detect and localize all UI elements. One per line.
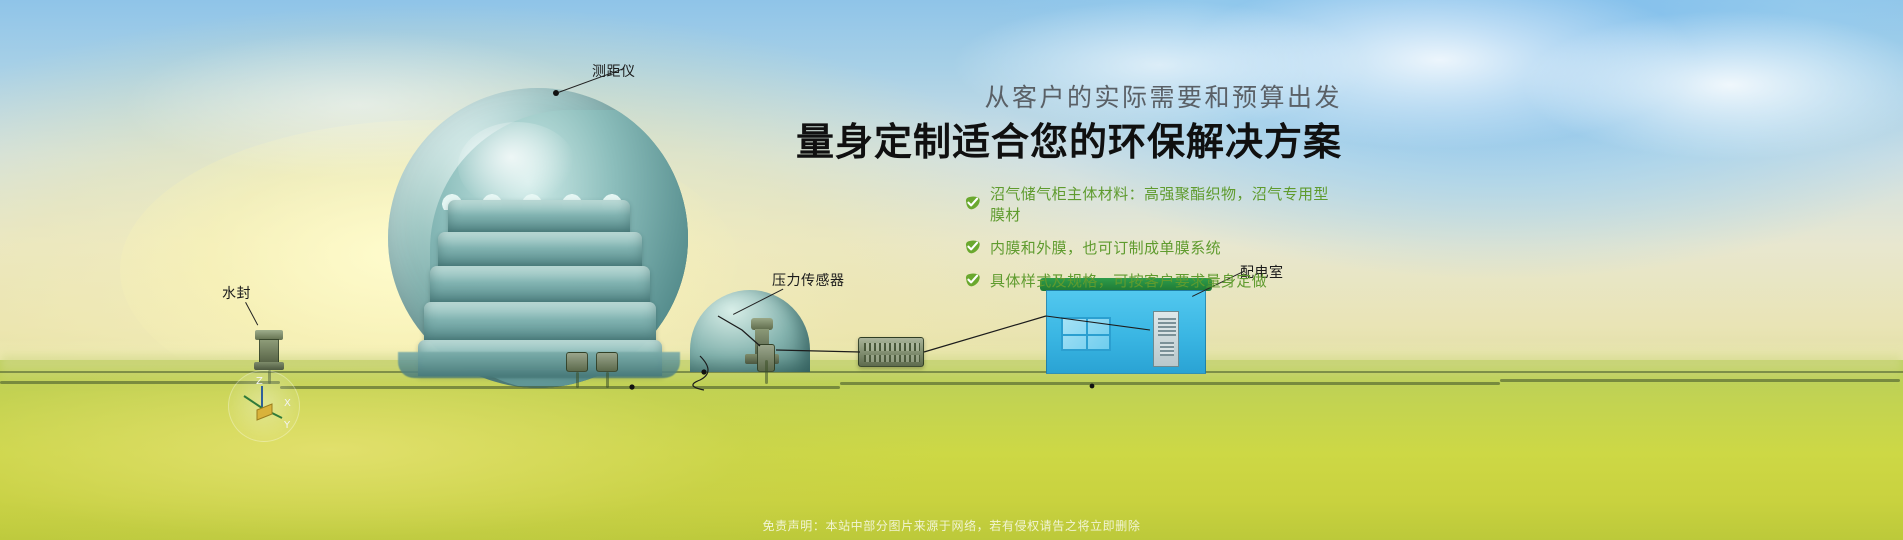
water-seal-base bbox=[254, 362, 284, 370]
membrane-step bbox=[430, 266, 650, 304]
control-panel bbox=[1153, 311, 1179, 367]
gizmo-axis-y: Y bbox=[283, 420, 291, 431]
pipe-main-right bbox=[840, 382, 1500, 385]
water-seal-unit bbox=[258, 330, 280, 372]
feature-text: 内膜和外膜，也可订制成单膜系统 bbox=[990, 237, 1221, 258]
membrane-step bbox=[438, 232, 642, 268]
pipe-riser-b bbox=[606, 372, 609, 388]
house-window bbox=[1061, 317, 1111, 351]
banner-headline: 量身定制适合您的环保解决方案 bbox=[782, 120, 1342, 165]
valve-box bbox=[566, 352, 588, 372]
axis-gizmo: Z X Y bbox=[228, 370, 300, 442]
feature-text: 具体样式及规格，可按客户要求量身定做 bbox=[990, 270, 1267, 291]
water-seal-body bbox=[259, 339, 279, 363]
valve-box bbox=[596, 352, 618, 372]
check-badge-icon bbox=[964, 272, 981, 289]
feature-text: 沼气储气柜主体材料：高强聚酯织物，沼气专用型膜材 bbox=[990, 183, 1342, 225]
pipe-tail-right bbox=[1500, 379, 1900, 382]
pipe-riser-a bbox=[576, 372, 579, 388]
banner-subheadline: 从客户的实际需要和预算出发 bbox=[782, 78, 1342, 114]
feature-item: 沼气储气柜主体材料：高强聚酯织物，沼气专用型膜材 bbox=[964, 183, 1342, 225]
feature-item: 内膜和外膜，也可订制成单膜系统 bbox=[964, 237, 1342, 258]
pipe-main-mid bbox=[280, 386, 840, 389]
pipe-riser-sensor bbox=[765, 360, 768, 384]
compressor-unit bbox=[858, 337, 924, 367]
label-rangefinder: 测距仪 bbox=[592, 61, 636, 81]
label-water-seal: 水封 bbox=[222, 283, 251, 303]
disclaimer-text: 免责声明：本站中部分图片来源于网络，若有侵权请告之将立即删除 bbox=[0, 517, 1903, 534]
gizmo-axis-x: X bbox=[284, 398, 291, 409]
membrane-step bbox=[424, 302, 656, 342]
check-badge-icon bbox=[964, 195, 981, 212]
marketing-copy: 从客户的实际需要和预算出发 量身定制适合您的环保解决方案 沼气储气柜主体材料：高… bbox=[782, 78, 1342, 303]
dome-base-ring bbox=[398, 352, 680, 378]
feature-list: 沼气储气柜主体材料：高强聚酯织物，沼气专用型膜材 内膜和外膜，也可订制成单膜系统 bbox=[782, 183, 1342, 291]
gizmo-axis-z: Z bbox=[256, 376, 263, 387]
feature-item: 具体样式及规格，可按客户要求量身定做 bbox=[964, 270, 1342, 291]
membrane-step bbox=[448, 200, 630, 234]
leader-line-water-seal bbox=[245, 302, 258, 325]
banner-stage: 水封 测距仪 压力传感器 配电室 bbox=[0, 0, 1903, 540]
check-badge-icon bbox=[964, 239, 981, 256]
